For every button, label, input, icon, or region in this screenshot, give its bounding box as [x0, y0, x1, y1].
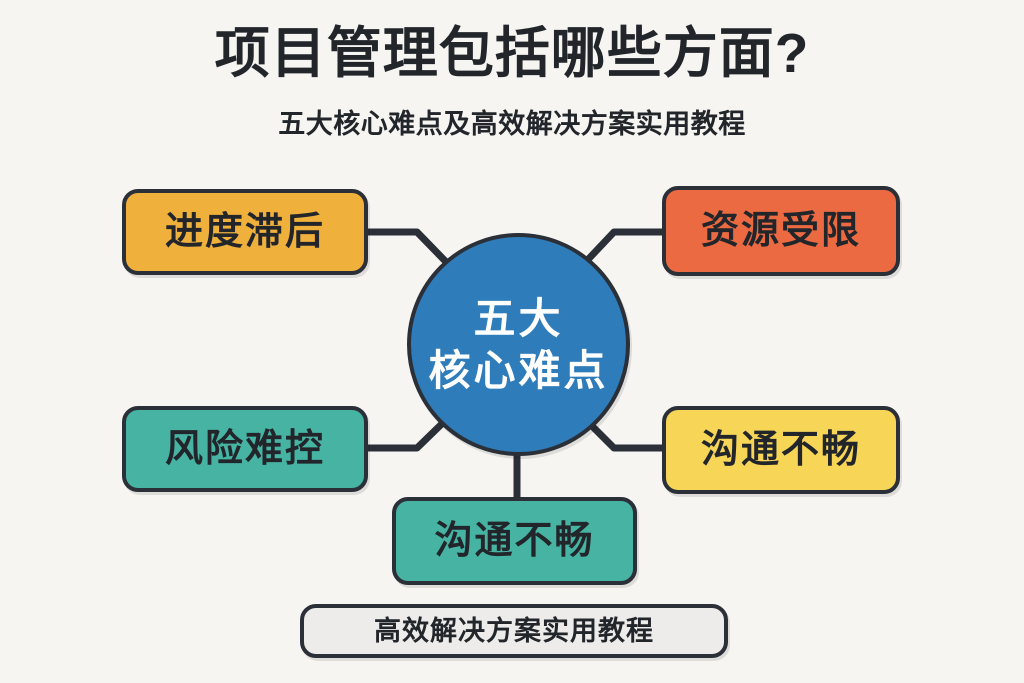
node-schedule-label: 进度滞后 — [165, 212, 325, 252]
node-risk-label: 风险难控 — [165, 429, 325, 469]
center-hub-label-line-2: 核心难点 — [428, 345, 608, 397]
node-schedule[interactable]: 进度滞后 — [122, 189, 368, 275]
node-resource-label: 资源受限 — [701, 211, 861, 251]
node-resource[interactable]: 资源受限 — [662, 186, 900, 276]
connector-schedule — [368, 232, 452, 268]
infographic-canvas: 项目管理包括哪些方面? 五大核心难点及高效解决方案实用教程 进度滞后 资源受限 … — [0, 0, 1024, 683]
node-communication-bottom-label: 沟通不畅 — [434, 521, 594, 561]
center-hub[interactable]: 五大 核心难点 — [407, 233, 630, 456]
node-communication-bottom[interactable]: 沟通不畅 — [392, 497, 637, 585]
node-communication-right[interactable]: 沟通不畅 — [662, 406, 900, 494]
page-title: 项目管理包括哪些方面? — [0, 22, 1024, 84]
page-subtitle: 五大核心难点及高效解决方案实用教程 — [0, 107, 1024, 141]
center-hub-label-line-1: 五大 — [473, 293, 563, 345]
footer-caption-label: 高效解决方案实用教程 — [374, 616, 654, 646]
node-communication-right-label: 沟通不畅 — [701, 430, 861, 470]
footer-caption[interactable]: 高效解决方案实用教程 — [300, 604, 728, 658]
node-risk[interactable]: 风险难控 — [122, 406, 368, 492]
